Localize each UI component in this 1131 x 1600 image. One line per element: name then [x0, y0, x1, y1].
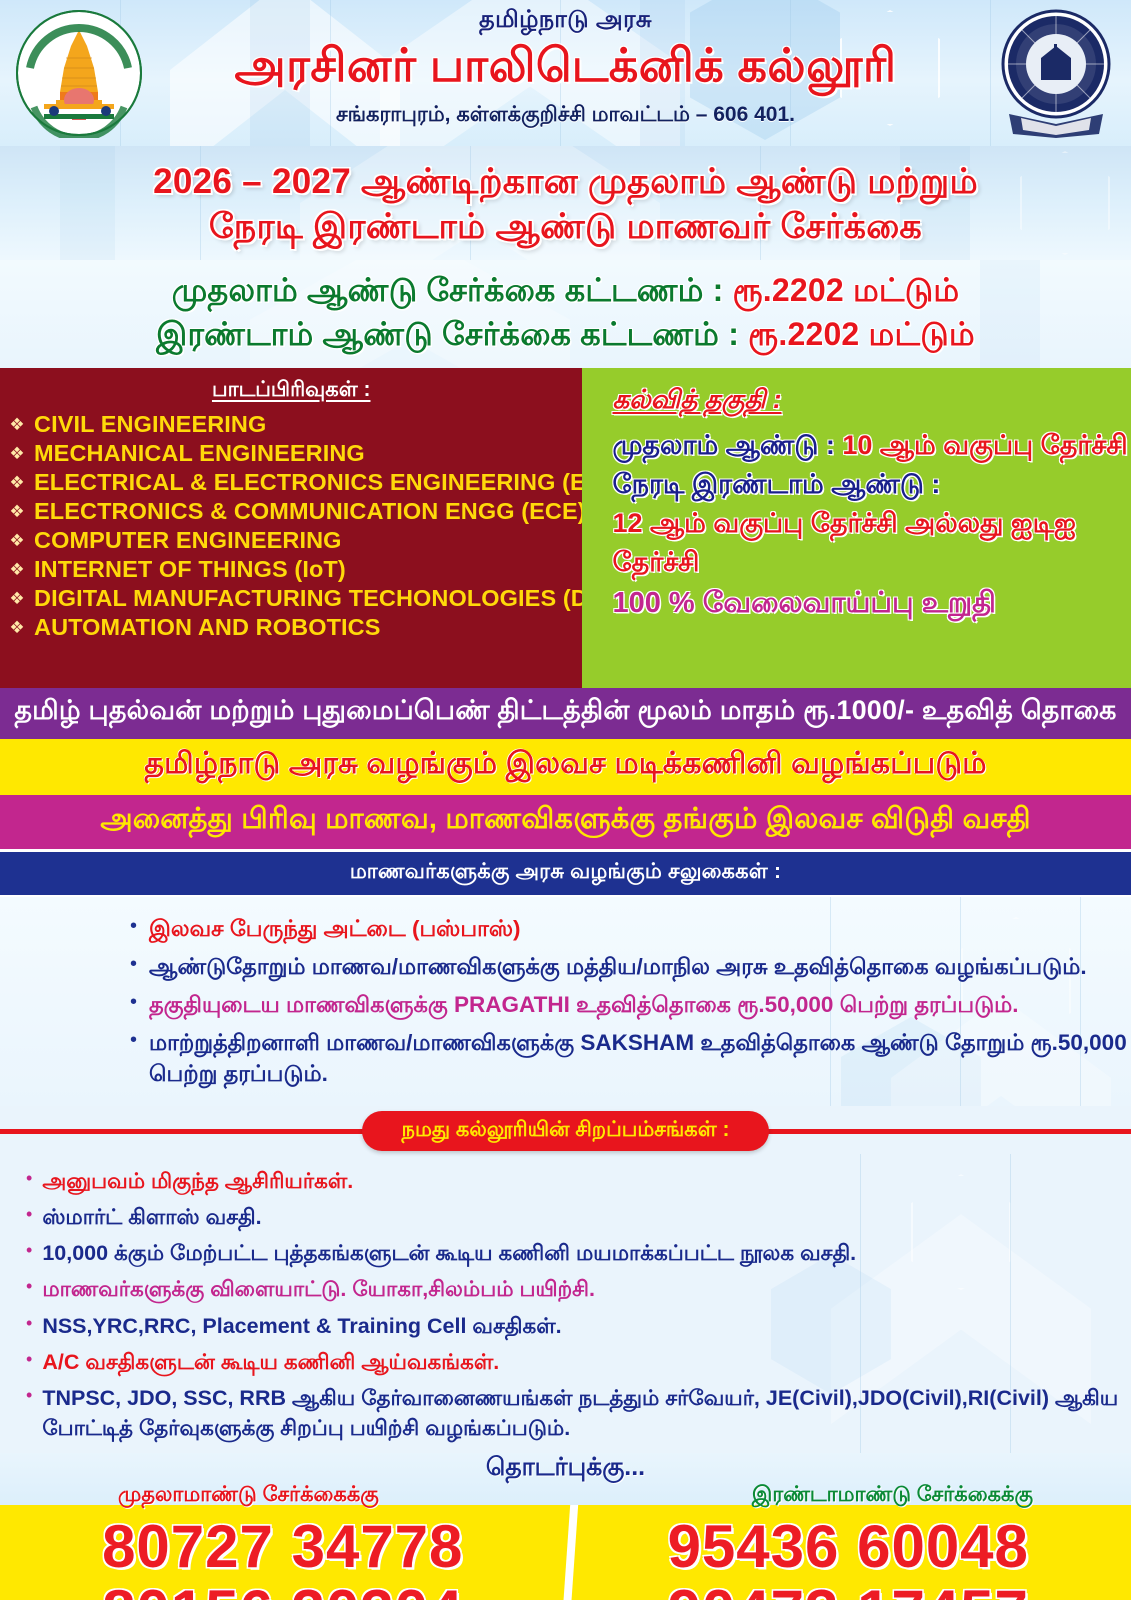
- fee-label-first-year: முதலாம் ஆண்டு சேர்க்கை கட்டணம் :: [172, 272, 733, 308]
- course-item: ❖ COMPUTER ENGINEERING: [0, 526, 582, 555]
- bullet-icon: •: [26, 1383, 32, 1443]
- courses-and-eligibility: பாடப்பிரிவுகள் : ❖ CIVIL ENGINEERING ❖ M…: [0, 368, 1131, 688]
- benefits-header: மாணவர்களுக்கு அரசு வழங்கும் சலுகைகள் :: [0, 849, 1131, 897]
- courses-panel: பாடப்பிரிவுகள் : ❖ CIVIL ENGINEERING ❖ M…: [0, 368, 582, 688]
- admission-poster: தமிழ்நாடு அரசு அரசினர் பாலிடெக்னிக் கல்ல…: [0, 0, 1131, 1600]
- contact-labels: தொடர்புக்கு... முதலாமாண்டு சேர்க்கைக்கு …: [0, 1453, 1131, 1509]
- eligibility-panel: கல்வித் தகுதி : முதலாம் ஆண்டு : 10 ஆம் வ…: [582, 368, 1131, 688]
- highlight-text: A/C வசதிகளுடன் கூடிய கணினி ஆய்வகங்கள்.: [42, 1347, 499, 1377]
- benefit-item: • இலவச பேருந்து அட்டை (பஸ்பாஸ்): [130, 913, 1131, 944]
- course-item: ❖ AUTOMATION AND ROBOTICS: [0, 613, 582, 642]
- highlight-text: 10,000 க்கும் மேற்பட்ட புத்தகங்களுடன் கூ…: [42, 1238, 856, 1268]
- contact-heading: தொடர்புக்கு...: [0, 1453, 1131, 1485]
- highlight-text: NSS,YRC,RRC, Placement & Training Cell வ…: [42, 1311, 561, 1341]
- course-item: ❖ DIGITAL MANUFACTURING TECHONOLOGIES (D…: [0, 584, 582, 613]
- course-label: ELECTRONICS & COMMUNICATION ENGG (ECE): [34, 498, 586, 525]
- diamond-bullet-icon: ❖: [8, 561, 26, 578]
- benefit-item: • மாற்றுத்திறனாளி மாணவ/மாணவிகளுக்கு SAKS…: [130, 1027, 1131, 1089]
- course-item: ❖ MECHANICAL ENGINEERING: [0, 439, 582, 468]
- eligibility-second-year-label: நேரடி இரண்டாம் ஆண்டு :: [612, 465, 1131, 504]
- contact-right-numbers: 95436 60048 90473 17457: [566, 1515, 1131, 1600]
- diamond-bullet-icon: ❖: [8, 445, 26, 462]
- course-item: ❖ ELECTRONICS & COMMUNICATION ENGG (ECE): [0, 497, 582, 526]
- phone-number[interactable]: 80156 30304: [0, 1580, 566, 1600]
- highlight-item: • 10,000 க்கும் மேற்பட்ட புத்தகங்களுடன் …: [26, 1238, 1131, 1268]
- diamond-bullet-icon: ❖: [8, 503, 26, 520]
- bullet-icon: •: [26, 1274, 32, 1304]
- highlight-item: • மாணவர்களுக்கு விளையாட்டு. யோகா,சிலம்பம…: [26, 1274, 1131, 1304]
- highlight-item: • NSS,YRC,RRC, Placement & Training Cell…: [26, 1311, 1131, 1341]
- fee-amount-second-year: ரூ.2202 மட்டும்: [748, 316, 975, 352]
- bullet-icon: •: [26, 1202, 32, 1232]
- eligibility-first-year: முதலாம் ஆண்டு : 10 ஆம் வகுப்பு தேர்ச்சி: [612, 426, 1131, 465]
- fees-section: முதலாம் ஆண்டு சேர்க்கை கட்டணம் : ரூ.2202…: [0, 260, 1131, 368]
- course-item: ❖ CIVIL ENGINEERING: [0, 410, 582, 439]
- bullet-icon: •: [26, 1238, 32, 1268]
- course-label: MECHANICAL ENGINEERING: [34, 440, 365, 467]
- benefit-text: தகுதியுடைய மாணவிகளுக்கு PRAGATHI உதவித்த…: [149, 989, 1019, 1020]
- highlight-text: ஸ்மார்ட் கிளாஸ் வசதி.: [42, 1202, 261, 1232]
- fee-amount-first-year: ரூ.2202 மட்டும்: [733, 272, 960, 308]
- highlight-item: • ஸ்மார்ட் கிளாஸ் வசதி.: [26, 1202, 1131, 1232]
- courses-title: பாடப்பிரிவுகள் :: [0, 378, 582, 404]
- course-label: INTERNET OF THINGS (IoT): [34, 556, 346, 583]
- phone-number[interactable]: 90473 17457: [566, 1580, 1131, 1600]
- bullet-icon: •: [26, 1311, 32, 1341]
- benefit-text: மாற்றுத்திறனாளி மாணவ/மாணவிகளுக்கு SAKSHA…: [149, 1027, 1131, 1089]
- benefits-section: • இலவச பேருந்து அட்டை (பஸ்பாஸ்) • ஆண்டுத…: [0, 897, 1131, 1106]
- diamond-bullet-icon: ❖: [8, 474, 26, 491]
- contact-section: தொடர்புக்கு... முதலாமாண்டு சேர்க்கைக்கு …: [0, 1453, 1131, 1600]
- course-label: ELECTRICAL & ELECTRONICS ENGINEERING (EE…: [34, 469, 625, 496]
- contact-left-label: முதலாமாண்டு சேர்க்கைக்கு: [118, 1483, 379, 1509]
- poster-header: தமிழ்நாடு அரசு அரசினர் பாலிடெக்னிக் கல்ல…: [0, 0, 1131, 146]
- fee-row-first-year: முதலாம் ஆண்டு சேர்க்கை கட்டணம் : ரூ.2202…: [0, 268, 1131, 312]
- highlight-text: மாணவர்களுக்கு விளையாட்டு. யோகா,சிலம்பம் …: [42, 1274, 595, 1304]
- scheme-strip-stipend: தமிழ் புதல்வன் மற்றும் புதுமைப்பெண் திட்…: [0, 688, 1131, 739]
- eligibility-title: கல்வித் தகுதி :: [612, 384, 1131, 418]
- course-label: AUTOMATION AND ROBOTICS: [34, 614, 381, 641]
- diamond-bullet-icon: ❖: [8, 416, 26, 433]
- college-name: அரசினர் பாலிடெக்னிக் கல்லூரி: [0, 38, 1131, 99]
- highlight-item: • அனுபவம் மிகுந்த ஆசிரியர்கள்.: [26, 1166, 1131, 1196]
- bullet-icon: •: [130, 951, 137, 982]
- announcement-line-1: 2026 – 2027 ஆண்டிற்கான முதலாம் ஆண்டு மற்…: [0, 160, 1131, 205]
- contact-left-numbers: 80727 34778 80156 30304: [0, 1515, 566, 1600]
- highlight-text: அனுபவம் மிகுந்த ஆசிரியர்கள்.: [42, 1166, 353, 1196]
- scheme-strip-free-hostel: அனைத்து பிரிவு மாணவ, மாணவிகளுக்கு தங்கும…: [0, 795, 1131, 849]
- highlight-item: • TNPSC, JDO, SSC, RRB ஆகிய தேர்வானைணயங்…: [26, 1383, 1131, 1443]
- highlights-header-ribbon: நமது கல்லூரியின் சிறப்பம்சங்கள் :: [0, 1108, 1131, 1154]
- course-item: ❖ INTERNET OF THINGS (IoT): [0, 555, 582, 584]
- bullet-icon: •: [130, 1027, 137, 1089]
- highlights-section: • அனுபவம் மிகுந்த ஆசிரியர்கள். • ஸ்மார்ட…: [0, 1154, 1131, 1453]
- bullet-icon: •: [26, 1166, 32, 1196]
- highlight-text: TNPSC, JDO, SSC, RRB ஆகிய தேர்வானைணயங்கள…: [42, 1383, 1131, 1443]
- eligibility-second-year-value: 12 ஆம் வகுப்பு தேர்ச்சி அல்லது ஐடிஐ தேர்…: [612, 504, 1131, 582]
- diamond-bullet-icon: ❖: [8, 590, 26, 607]
- benefit-text: ஆண்டுதோறும் மாணவ/மாணவிகளுக்கு மத்திய/மாந…: [149, 951, 1087, 982]
- fee-row-second-year: இரண்டாம் ஆண்டு சேர்க்கை கட்டணம் : ரூ.220…: [0, 312, 1131, 356]
- highlights-header-label: நமது கல்லூரியின் சிறப்பம்சங்கள் :: [362, 1111, 770, 1151]
- contact-numbers: 80727 34778 80156 30304 95436 60048 9047…: [0, 1515, 1131, 1600]
- course-label: CIVIL ENGINEERING: [34, 411, 266, 438]
- scheme-strip-free-laptop: தமிழ்நாடு அரசு வழங்கும் இலவச மடிக்கணினி …: [0, 739, 1131, 795]
- placement-guarantee: 100 % வேலைவாய்ப்பு உறுதி: [612, 582, 1131, 624]
- phone-number[interactable]: 95436 60048: [566, 1515, 1131, 1580]
- benefit-item: • ஆண்டுதோறும் மாணவ/மாணவிகளுக்கு மத்திய/ம…: [130, 951, 1131, 982]
- eligibility-first-year-prefix: முதலாம் ஆண்டு :: [612, 430, 842, 460]
- fee-label-second-year: இரண்டாம் ஆண்டு சேர்க்கை கட்டணம் :: [156, 316, 748, 352]
- benefit-text: இலவச பேருந்து அட்டை (பஸ்பாஸ்): [149, 913, 521, 944]
- bullet-icon: •: [130, 989, 137, 1020]
- bullet-icon: •: [130, 913, 137, 944]
- diamond-bullet-icon: ❖: [8, 619, 26, 636]
- contact-right-label: இரண்டாமாண்டு சேர்க்கைக்கு: [752, 1483, 1033, 1509]
- phone-number[interactable]: 80727 34778: [0, 1515, 566, 1580]
- course-item: ❖ ELECTRICAL & ELECTRONICS ENGINEERING (…: [0, 468, 582, 497]
- benefit-item: • தகுதியுடைய மாணவிகளுக்கு PRAGATHI உதவித…: [130, 989, 1131, 1020]
- eligibility-first-year-value: 10 ஆம் வகுப்பு தேர்ச்சி: [842, 430, 1127, 460]
- bullet-icon: •: [26, 1347, 32, 1377]
- government-label: தமிழ்நாடு அரசு: [0, 6, 1131, 36]
- highlight-item: • A/C வசதிகளுடன் கூடிய கணினி ஆய்வகங்கள்.: [26, 1347, 1131, 1377]
- header-titles: தமிழ்நாடு அரசு அரசினர் பாலிடெக்னிக் கல்ல…: [0, 6, 1131, 129]
- announcement-banner: 2026 – 2027 ஆண்டிற்கான முதலாம் ஆண்டு மற்…: [0, 146, 1131, 260]
- announcement-line-2: நேரடி இரண்டாம் ஆண்டு மாணவர் சேர்க்கை: [0, 205, 1131, 250]
- course-label: DIGITAL MANUFACTURING TECHONOLOGIES (DMT…: [34, 585, 630, 612]
- diamond-bullet-icon: ❖: [8, 532, 26, 549]
- college-address: சங்கராபுரம், கள்ளக்குறிச்சி மாவட்டம் – 6…: [0, 103, 1131, 129]
- course-label: COMPUTER ENGINEERING: [34, 527, 342, 554]
